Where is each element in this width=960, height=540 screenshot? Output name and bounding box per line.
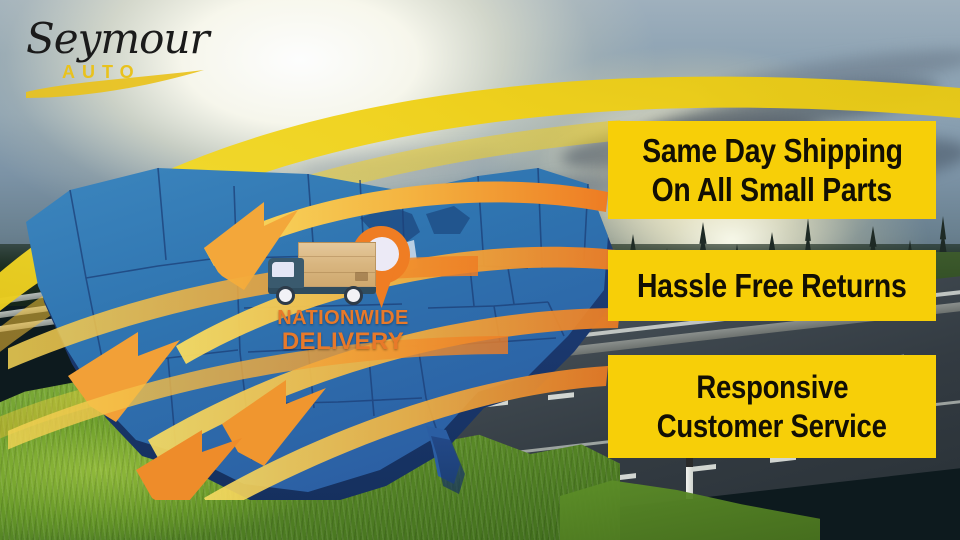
nationwide-delivery-text: NATIONWIDE DELIVERY (261, 308, 425, 354)
truck-window (272, 262, 294, 277)
logo-underline-swoosh (18, 8, 208, 100)
seymour-auto-logo[interactable]: Seymour AUTO (18, 8, 208, 100)
promo-banner: NATIONWIDE DELIVERY Seymour AUTO Same Da… (0, 0, 960, 540)
nationwide-line-1: NATIONWIDE (277, 307, 408, 329)
callout-box-same-day-shipping[interactable]: Same Day Shipping On All Small Parts (608, 121, 936, 219)
truck-wheel (276, 286, 295, 305)
callout-2-line-1: Hassle Free Returns (637, 269, 907, 303)
callout-3-line-2: Customer Service (657, 410, 887, 443)
callout-box-responsive-customer-service[interactable]: Responsive Customer Service (608, 355, 936, 458)
truck-wheel (344, 286, 363, 305)
callout-3-line-1: Responsive (696, 371, 848, 404)
callout-1-line-1: Same Day Shipping (642, 134, 903, 168)
callout-1-line-2: On All Small Parts (652, 173, 892, 207)
nationwide-line-2: DELIVERY (261, 330, 425, 354)
callout-box-hassle-free-returns[interactable]: Hassle Free Returns (608, 250, 936, 321)
nationwide-delivery-badge: NATIONWIDE DELIVERY (262, 222, 422, 362)
cardboard-box-icon (298, 242, 376, 287)
